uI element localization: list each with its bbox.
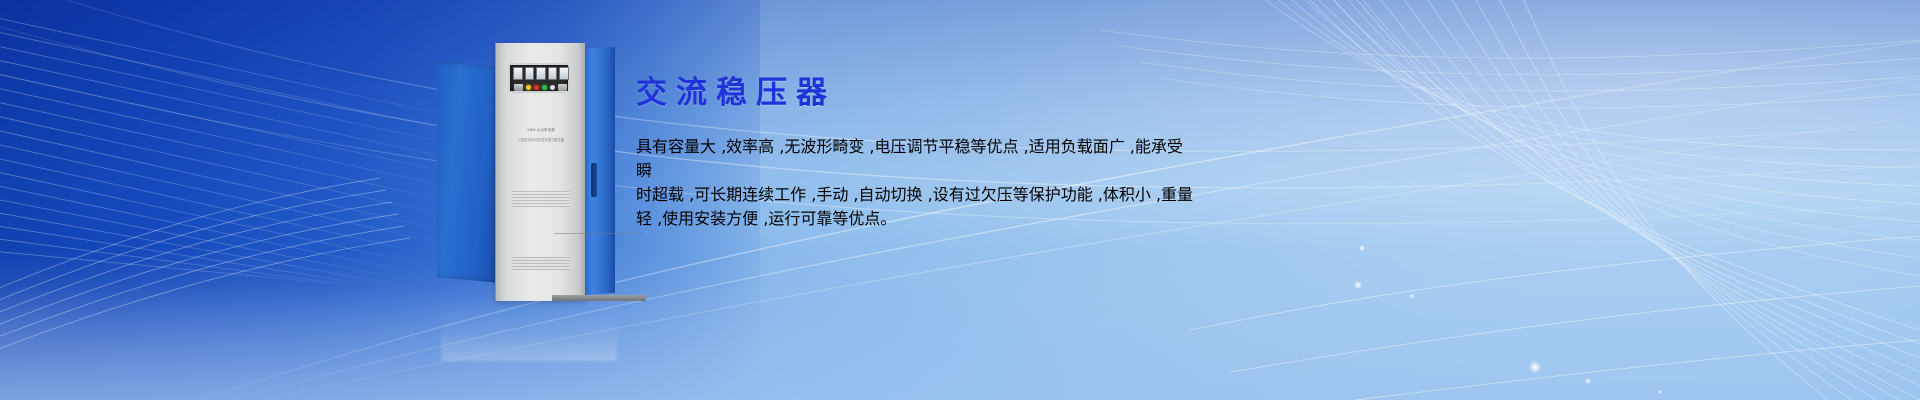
panel-seam: [554, 233, 644, 234]
meter-gauge: [548, 67, 558, 80]
indicator-lamp-yellow: [526, 85, 531, 90]
background-floor-reflection: [0, 285, 1920, 400]
banner-headline: 交流稳压器: [636, 78, 1196, 109]
meter-gauge: [525, 67, 535, 80]
ventilation-grille-upper: [512, 191, 570, 207]
indicator-lamp-red: [534, 85, 539, 90]
meter-gauge: [513, 67, 523, 80]
cabinet-door-handle: [591, 163, 597, 197]
indicator-lamp-white: [550, 85, 555, 90]
ventilation-grille-lower: [512, 257, 570, 270]
meter-gauge: [536, 67, 546, 80]
cabinet-right-side-panel: [584, 47, 615, 295]
product-model-label: SBW-大功率电源: [512, 127, 570, 132]
product-floor-reflection: [441, 299, 617, 361]
description-line-2: 时超载 ,可长期连续工作 ,手动 ,自动切换 ,设有过欠压等保护功能 ,体积小 …: [636, 181, 1196, 205]
cabinet-front-panel: SBW-大功率电源 三相交流自动补偿式电力稳压器: [495, 43, 585, 301]
meter-gauges: [513, 67, 569, 80]
banner-copy: 交流稳压器 具有容量大 ,效率高 ,无波形畸变 ,电压调节平稳等优点 ,适用负载…: [636, 78, 1196, 245]
description-line-1: 具有容量大 ,效率高 ,无波形畸变 ,电压调节平稳等优点 ,适用负载面广 ,能承…: [636, 133, 1196, 181]
product-banner: SBW-大功率电源 三相交流自动补偿式电力稳压器 交流稳压器 具有容量大 ,效率…: [0, 0, 1920, 400]
rotary-switch-icon: [514, 84, 523, 91]
rotary-switch-icon: [558, 84, 567, 91]
control-panel: [508, 63, 570, 93]
cabinet-left-side-panel: [437, 61, 499, 283]
product-image-stabilizer-cabinet: SBW-大功率电源 三相交流自动补偿式电力稳压器: [437, 43, 615, 301]
indicator-lamp-green: [542, 85, 547, 90]
product-sub-label: 三相交流自动补偿式电力稳压器: [506, 137, 576, 142]
indicator-lamp-row: [514, 83, 568, 91]
description-line-3: 轻 ,使用安装方便 ,运行可靠等优点。: [636, 205, 1196, 229]
meter-gauge: [559, 67, 569, 80]
